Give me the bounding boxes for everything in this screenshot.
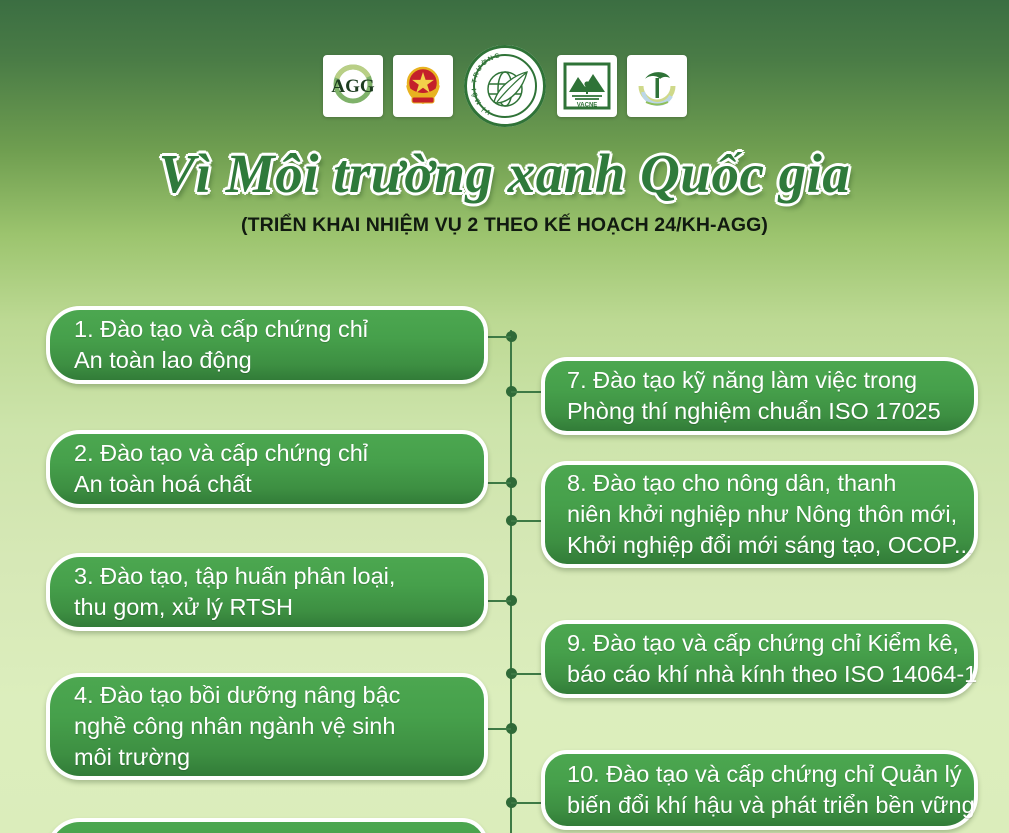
card-text: 4. Đào tạo bồi dưỡng nâng bậc nghề công … (46, 673, 488, 780)
vietnam-emblem-logo (393, 55, 453, 117)
agg-logo: AGG (323, 55, 383, 117)
card-line: 2. Đào tạo và cấp chứng chỉ (74, 438, 462, 469)
task-card-5-partial[interactable] (46, 818, 488, 833)
tree-logo (627, 55, 687, 117)
logo-strip: AGG VÌ MÔI TRƯỜNG XANH QUỐC GIA (0, 44, 1009, 128)
card-line: 10. Đào tạo và cấp chứng chỉ Quản lý (567, 759, 954, 790)
connector-branch-10 (511, 802, 543, 804)
card-line: 3. Đào tạo, tập huấn phân loại, (74, 561, 462, 592)
task-card-4[interactable]: 4. Đào tạo bồi dưỡng nâng bậc nghề công … (46, 673, 488, 780)
card-text (46, 818, 488, 833)
vacne-logo: VACNE (557, 55, 617, 117)
vi-moi-truong-xanh-quoc-gia-seal: VÌ MÔI TRƯỜNG XANH QUỐC GIA (463, 44, 547, 128)
task-card-8[interactable]: 8. Đào tạo cho nông dân, thanh niên khởi… (541, 461, 978, 568)
task-card-3[interactable]: 3. Đào tạo, tập huấn phân loại, thu gom,… (46, 553, 488, 631)
task-card-9[interactable]: 9. Đào tạo và cấp chứng chỉ Kiểm kê, báo… (541, 620, 978, 698)
card-line: 1. Đào tạo và cấp chứng chỉ (74, 314, 462, 345)
connector-spine (510, 330, 512, 833)
card-line: Phòng thí nghiệm chuẩn ISO 17025 (567, 396, 954, 427)
task-card-2[interactable]: 2. Đào tạo và cấp chứng chỉ An toàn hoá … (46, 430, 488, 508)
card-line: môi trường (74, 742, 462, 773)
card-text: 10. Đào tạo và cấp chứng chỉ Quản lý biế… (541, 750, 978, 830)
card-line: báo cáo khí nhà kính theo ISO 14064-1 (567, 659, 954, 690)
card-text: 3. Đào tạo, tập huấn phân loại, thu gom,… (46, 553, 488, 631)
card-line: thu gom, xử lý RTSH (74, 592, 462, 623)
card-text: 1. Đào tạo và cấp chứng chỉ An toàn lao … (46, 306, 488, 384)
card-line: 8. Đào tạo cho nông dân, thanh (567, 468, 954, 499)
poster-canvas: AGG VÌ MÔI TRƯỜNG XANH QUỐC GIA (0, 0, 1009, 833)
connector-branch-2 (486, 482, 511, 484)
card-line: 7. Đào tạo kỹ năng làm việc trong (567, 365, 954, 396)
task-card-10[interactable]: 10. Đào tạo và cấp chứng chỉ Quản lý biế… (541, 750, 978, 830)
connector-branch-9 (511, 673, 543, 675)
card-line: 4. Đào tạo bồi dưỡng nâng bậc (74, 680, 462, 711)
card-text: 7. Đào tạo kỹ năng làm việc trong Phòng … (541, 357, 978, 435)
card-line: Khởi nghiệp đổi mới sáng tạo, OCOP... (567, 530, 954, 561)
card-line: An toàn lao động (74, 345, 462, 376)
connector-branch-7 (511, 391, 543, 393)
card-line: biến đổi khí hậu và phát triển bền vững (567, 790, 954, 821)
card-text: 2. Đào tạo và cấp chứng chỉ An toàn hoá … (46, 430, 488, 508)
page-title: Vì Môi trường xanh Quốc gia (0, 142, 1009, 205)
svg-text:AGG: AGG (331, 76, 375, 97)
connector-branch-1 (486, 336, 511, 338)
card-line: niên khởi nghiệp như Nông thôn mới, (567, 499, 954, 530)
task-card-1[interactable]: 1. Đào tạo và cấp chứng chỉ An toàn lao … (46, 306, 488, 384)
card-line: An toàn hoá chất (74, 469, 462, 500)
connector-branch-3 (486, 600, 511, 602)
connector-branch-4 (486, 728, 511, 730)
card-line: nghề công nhân ngành vệ sinh (74, 711, 462, 742)
card-text: 9. Đào tạo và cấp chứng chỉ Kiểm kê, báo… (541, 620, 978, 698)
card-text: 8. Đào tạo cho nông dân, thanh niên khởi… (541, 461, 978, 568)
svg-text:VACNE: VACNE (576, 103, 597, 109)
card-line: 9. Đào tạo và cấp chứng chỉ Kiểm kê, (567, 628, 954, 659)
connector-branch-8 (511, 520, 543, 522)
task-card-7[interactable]: 7. Đào tạo kỹ năng làm việc trong Phòng … (541, 357, 978, 435)
page-subtitle: (TRIỂN KHAI NHIỆM VỤ 2 THEO KẾ HOẠCH 24/… (0, 214, 1009, 237)
